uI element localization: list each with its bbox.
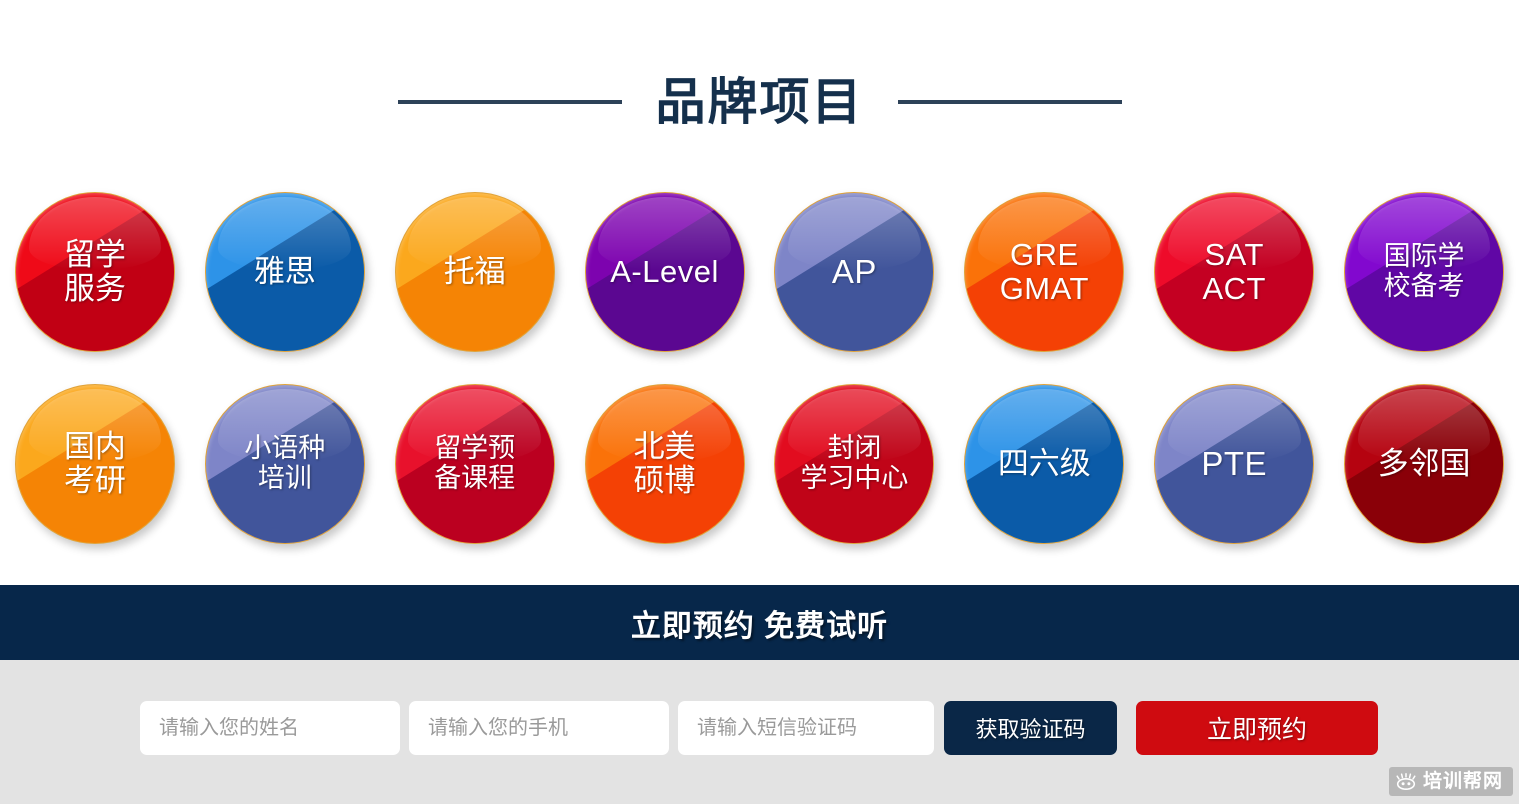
cta-banner-text: 立即预约 免费试听 (631, 601, 888, 645)
program-bubble-label: 留学预 备课程 (428, 434, 521, 492)
program-cell: 国内 考研 (0, 376, 190, 551)
program-cell: 小语种 培训 (190, 376, 380, 551)
program-bubble-label: SAT ACT (1196, 238, 1272, 305)
cta-banner: 立即预约 免费试听 (0, 585, 1519, 660)
program-bubble[interactable]: 北美 硕博 (585, 384, 745, 544)
program-cell: 留学预 备课程 (380, 376, 570, 551)
program-bubble-label: 四六级 (992, 447, 1097, 480)
submit-reservation-button[interactable]: 立即预约 (1136, 701, 1378, 755)
program-bubble-label: A-Level (604, 255, 725, 288)
program-row-2: 国内 考研小语种 培训留学预 备课程北美 硕博封闭 学习中心四六级PTE多邻国 (0, 376, 1519, 551)
program-bubble-label: 北美 硕博 (628, 430, 702, 497)
program-cell: SAT ACT (1139, 184, 1329, 359)
program-grid: 留学 服务雅思托福A-LevelAPGRE GMATSAT ACT国际学 校备考… (0, 176, 1519, 560)
program-bubble[interactable]: 国内 考研 (15, 384, 175, 544)
reservation-form: 获取验证码 立即预约 (140, 701, 1378, 755)
program-bubble-label: 雅思 (248, 255, 322, 288)
program-bubble[interactable]: 雅思 (205, 192, 365, 352)
program-bubble-label: 多邻国 (1372, 447, 1477, 480)
reservation-form-strip: 获取验证码 立即预约 培训帮网 (0, 660, 1519, 804)
program-bubble[interactable]: SAT ACT (1154, 192, 1314, 352)
program-row-1: 留学 服务雅思托福A-LevelAPGRE GMATSAT ACT国际学 校备考 (0, 184, 1519, 359)
program-bubble-label: 小语种 培训 (238, 434, 331, 492)
watermark-label: 培训帮网 (1423, 772, 1503, 791)
name-input[interactable] (140, 701, 400, 755)
program-cell: 雅思 (190, 184, 380, 359)
brand-programs-page: 品牌项目 留学 服务雅思托福A-LevelAPGRE GMATSAT ACT国际… (0, 0, 1519, 804)
phone-input[interactable] (409, 701, 669, 755)
program-cell: 北美 硕博 (570, 376, 760, 551)
program-bubble[interactable]: PTE (1154, 384, 1314, 544)
program-bubble-label: AP (826, 254, 883, 290)
program-bubble[interactable]: 留学预 备课程 (395, 384, 555, 544)
program-cell: GRE GMAT (949, 184, 1139, 359)
program-cell: AP (760, 184, 950, 359)
program-bubble-label: PTE (1195, 446, 1273, 482)
program-bubble-label: 封闭 学习中心 (794, 434, 914, 492)
program-bubble[interactable]: 四六级 (964, 384, 1124, 544)
program-bubble-label: 留学 服务 (58, 238, 132, 305)
title-rule-left (398, 100, 622, 104)
sun-face-icon (1396, 773, 1416, 790)
sms-code-input[interactable] (678, 701, 934, 755)
program-bubble[interactable]: 小语种 培训 (205, 384, 365, 544)
program-bubble-label: 国际学 校备考 (1378, 242, 1471, 300)
program-bubble[interactable]: A-Level (585, 192, 745, 352)
program-bubble-label: 托福 (438, 255, 512, 288)
program-cell: 四六级 (949, 376, 1139, 551)
program-cell: A-Level (570, 184, 760, 359)
page-title-row: 品牌项目 (0, 62, 1519, 142)
program-cell: 留学 服务 (0, 184, 190, 359)
program-cell: PTE (1139, 376, 1329, 551)
program-bubble-label: GRE GMAT (994, 238, 1095, 305)
program-bubble[interactable]: 留学 服务 (15, 192, 175, 352)
program-cell: 托福 (380, 184, 570, 359)
get-sms-code-button[interactable]: 获取验证码 (944, 701, 1117, 755)
program-bubble[interactable]: 封闭 学习中心 (774, 384, 934, 544)
site-watermark: 培训帮网 (1389, 767, 1513, 796)
program-bubble[interactable]: 托福 (395, 192, 555, 352)
program-bubble[interactable]: GRE GMAT (964, 192, 1124, 352)
program-bubble-label: 国内 考研 (58, 430, 132, 497)
program-cell: 多邻国 (1329, 376, 1519, 551)
program-bubble[interactable]: 多邻国 (1344, 384, 1504, 544)
program-bubble[interactable]: AP (774, 192, 934, 352)
program-cell: 封闭 学习中心 (760, 376, 950, 551)
title-rule-right (898, 100, 1122, 104)
page-title: 品牌项目 (656, 77, 864, 127)
program-cell: 国际学 校备考 (1329, 184, 1519, 359)
program-bubble[interactable]: 国际学 校备考 (1344, 192, 1504, 352)
